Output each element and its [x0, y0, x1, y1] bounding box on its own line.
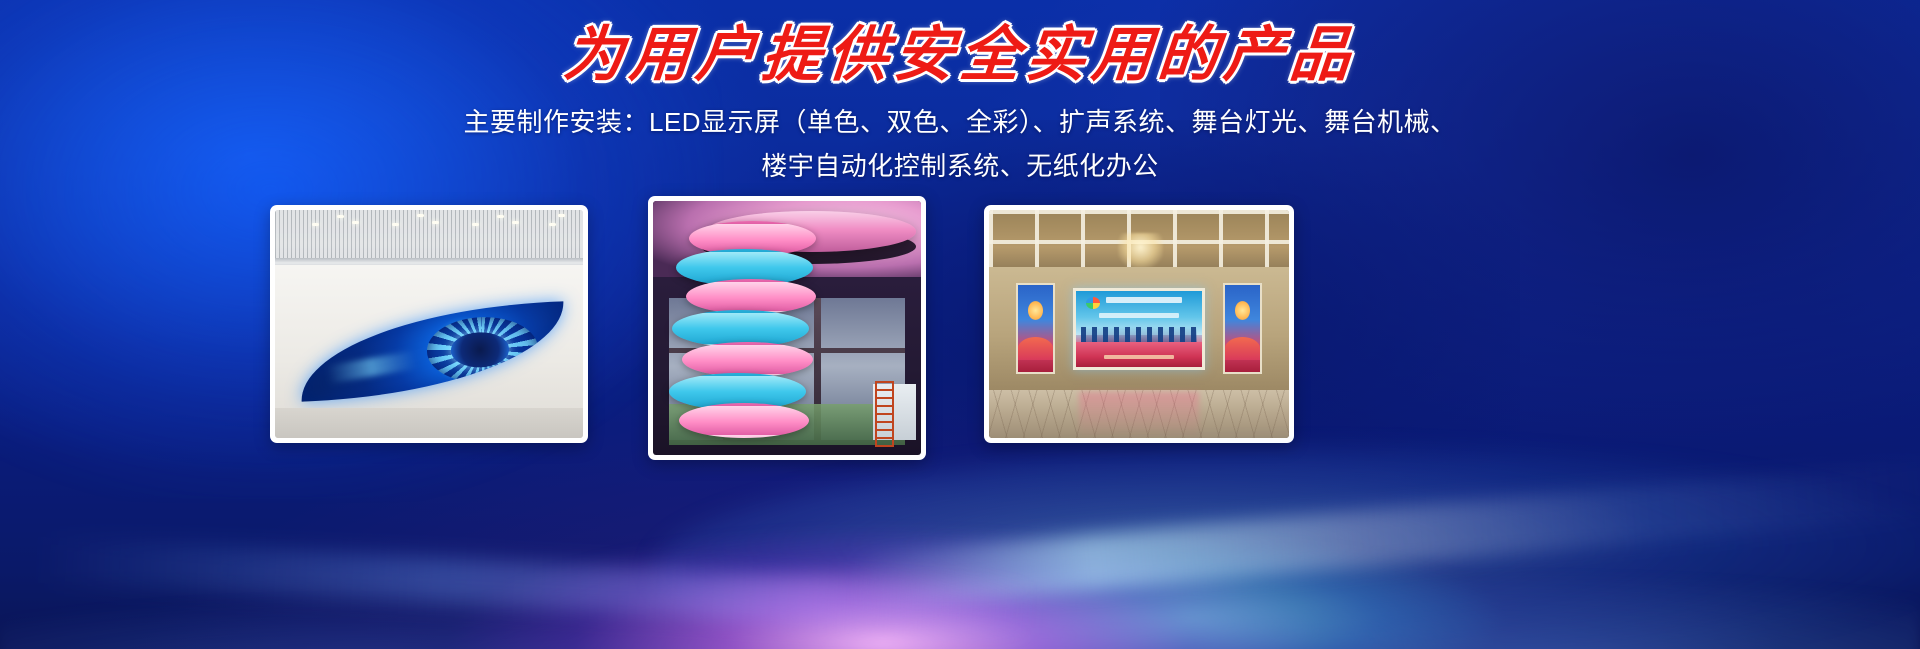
- side-led-panel-right: [1223, 283, 1262, 374]
- main-led-screen: [1073, 288, 1205, 370]
- conference-hall-led-screen-photo: [989, 210, 1289, 438]
- eye-shaped-led-display-photo: [275, 210, 583, 438]
- screen-title-text: [1106, 297, 1182, 302]
- panel-sun-graphic: [1235, 301, 1250, 320]
- hero-banner: 为用户提供安全实用的产品 主要制作安装：LED显示屏（单色、双色、全彩）、扩声系…: [0, 0, 1920, 649]
- company-logo-mark: [1086, 297, 1100, 309]
- spiral-coil: [686, 279, 816, 314]
- panel-sun-graphic: [1028, 301, 1043, 320]
- ceiling-spotlights: [275, 210, 583, 267]
- panel-red-band: [1018, 337, 1053, 360]
- photo-card-eye-display[interactable]: [270, 205, 588, 443]
- photo-card-conference-hall[interactable]: [984, 205, 1294, 443]
- side-led-panel-left: [1016, 283, 1055, 374]
- chandelier-light: [1118, 233, 1163, 269]
- screen-footer-text: [1104, 355, 1175, 359]
- screen-glint: [326, 350, 418, 384]
- panel-red-band: [1225, 337, 1260, 360]
- screen-subtitle-text: [1099, 313, 1180, 318]
